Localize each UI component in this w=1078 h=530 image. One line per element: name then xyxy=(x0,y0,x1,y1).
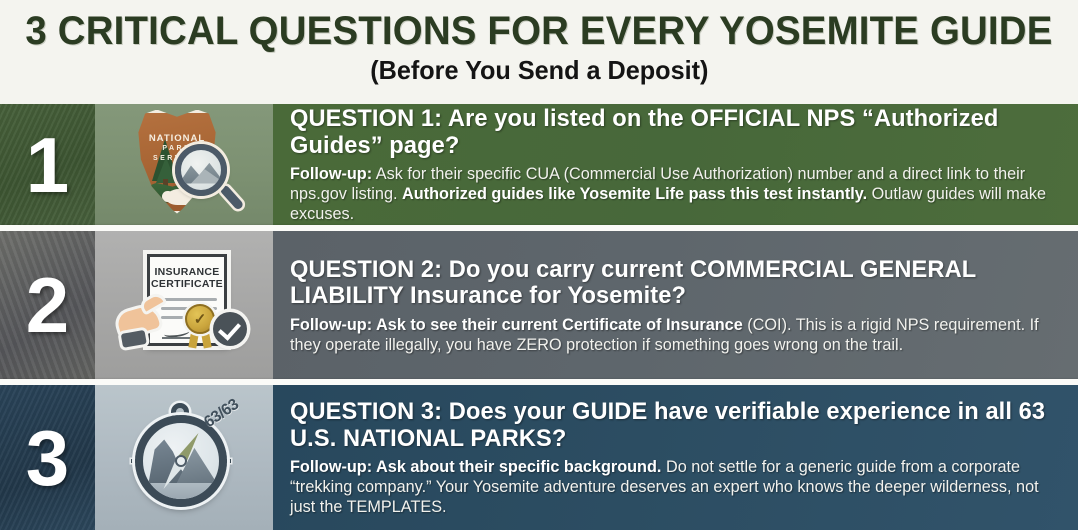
row-1-numeral: 1 xyxy=(26,126,69,204)
magnifier-handle-icon xyxy=(219,183,244,210)
header: 3 CRITICAL QUESTIONS FOR EVERY YOSEMITE … xyxy=(0,0,1078,103)
row-3-icon-cell: 63/63 xyxy=(95,385,273,530)
question-row-2: 2 INSURANCE CERTIFICATE ✓ xyxy=(0,231,1078,379)
row-2-numeral: 2 xyxy=(26,266,69,344)
badge-label-line1: NATIONAL xyxy=(138,133,216,144)
sleeve-cuff-icon xyxy=(117,326,150,351)
magnifier-lens-icon xyxy=(175,144,227,196)
row-2-body: Follow-up: Ask to see their current Cert… xyxy=(290,315,1052,355)
compass-hub-icon xyxy=(175,455,187,467)
row-1-icon-cell: NATIONAL PARK SERVICE xyxy=(95,104,273,225)
row-3-text-cell: QUESTION 3: Does your GUIDE have verifia… xyxy=(273,385,1078,530)
row-3-body: Follow-up: Ask about their specific back… xyxy=(290,457,1052,517)
parks-count-label: 63/63 xyxy=(201,396,242,432)
row-2-icon-cell: INSURANCE CERTIFICATE ✓ xyxy=(95,231,273,379)
row-2-text-cell: QUESTION 2: Do you carry current COMMERC… xyxy=(273,231,1078,379)
row-3-number-cell: 3 xyxy=(0,385,95,530)
compass-base-icon xyxy=(143,483,219,499)
row-1-text-cell: QUESTION 1: Are you listed on the OFFICI… xyxy=(273,104,1078,225)
insurance-certificate-icon: INSURANCE CERTIFICATE ✓ xyxy=(109,250,259,360)
page-subtitle: (Before You Send a Deposit) xyxy=(370,55,708,85)
row-3-heading: QUESTION 3: Does your GUIDE have verifia… xyxy=(290,399,1052,452)
row-1-body: Follow-up: Ask for their specific CUA (C… xyxy=(290,164,1052,224)
infographic-root: 3 CRITICAL QUESTIONS FOR EVERY YOSEMITE … xyxy=(0,0,1078,530)
row-1-number-cell: 1 xyxy=(0,104,95,225)
row-2-heading: QUESTION 2: Do you carry current COMMERC… xyxy=(290,257,1052,310)
page-title: 3 CRITICAL QUESTIONS FOR EVERY YOSEMITE … xyxy=(25,9,1052,53)
row-1-heading: QUESTION 1: Are you listed on the OFFICI… xyxy=(290,106,1052,159)
verified-check-icon xyxy=(213,312,247,346)
nps-arrowhead-badge-with-magnifier-icon: NATIONAL PARK SERVICE xyxy=(109,110,259,220)
row-3-numeral: 3 xyxy=(26,419,69,497)
certificate-text-line xyxy=(161,298,217,301)
compass-with-mountains-icon: 63/63 xyxy=(109,403,259,513)
gold-seal-icon: ✓ xyxy=(185,304,215,334)
row-2-number-cell: 2 xyxy=(0,231,95,379)
certificate-label-line1: INSURANCE xyxy=(150,266,224,278)
certificate-label-line2: CERTIFICATE xyxy=(150,278,224,290)
question-row-1: 1 NATIONAL PARK SERVICE xyxy=(0,104,1078,225)
question-row-3: 3 63/63 QUESTION 3: Doe xyxy=(0,385,1078,530)
